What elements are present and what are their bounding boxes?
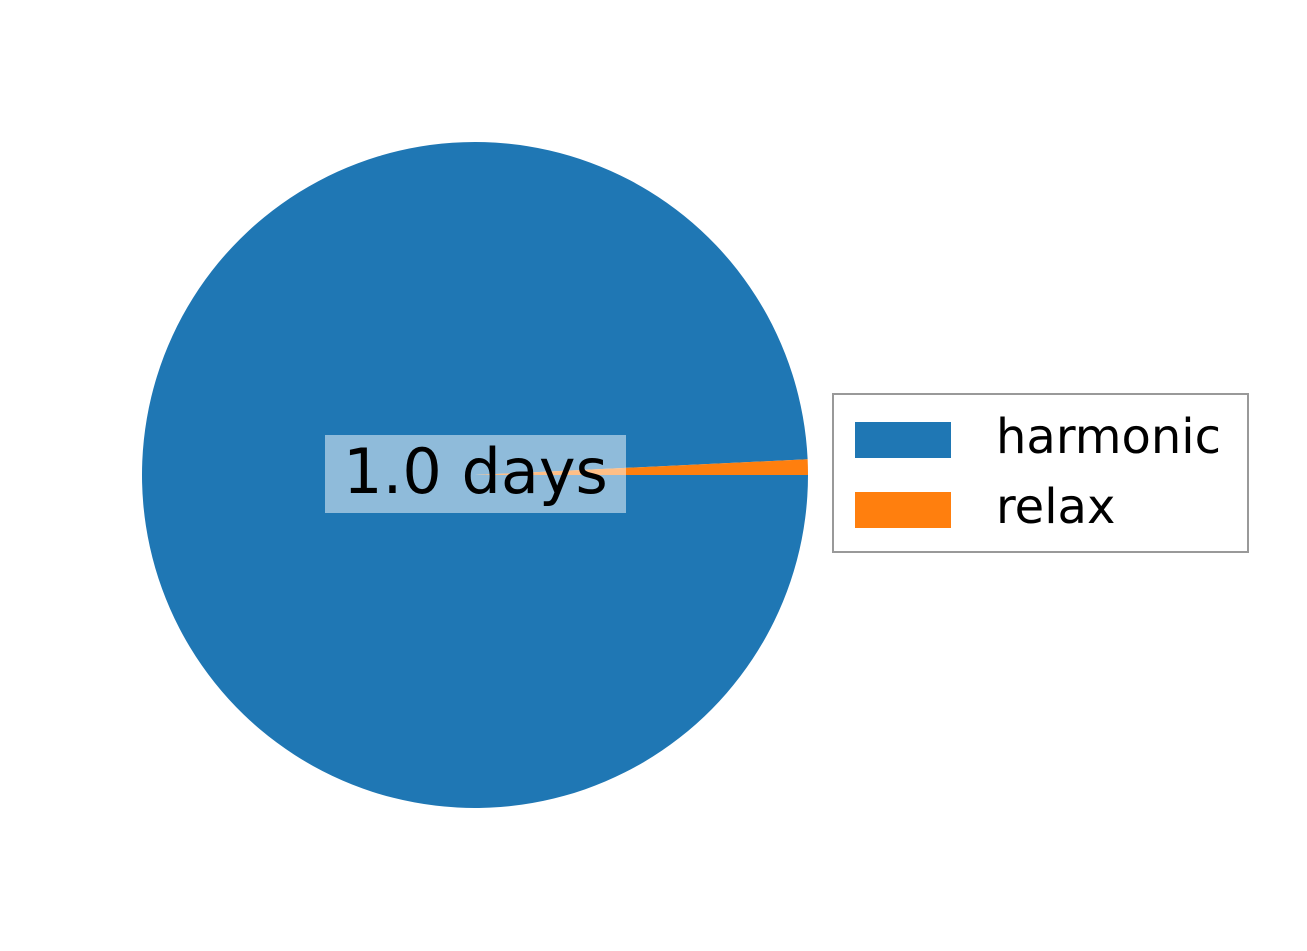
legend-swatch-harmonic [855, 422, 951, 458]
wedge-value-label-harmonic: 1.0 days [325, 435, 626, 513]
legend-item-relax[interactable]: relax [834, 479, 1247, 541]
legend-label-harmonic: harmonic [996, 413, 1221, 467]
legend-item-harmonic[interactable]: harmonic [834, 409, 1247, 471]
legend-box: harmonic relax [832, 393, 1249, 553]
legend-swatch-relax [855, 492, 951, 528]
figure-canvas: 1.0 days harmonic relax [0, 0, 1307, 951]
legend-label-relax: relax [996, 483, 1115, 537]
